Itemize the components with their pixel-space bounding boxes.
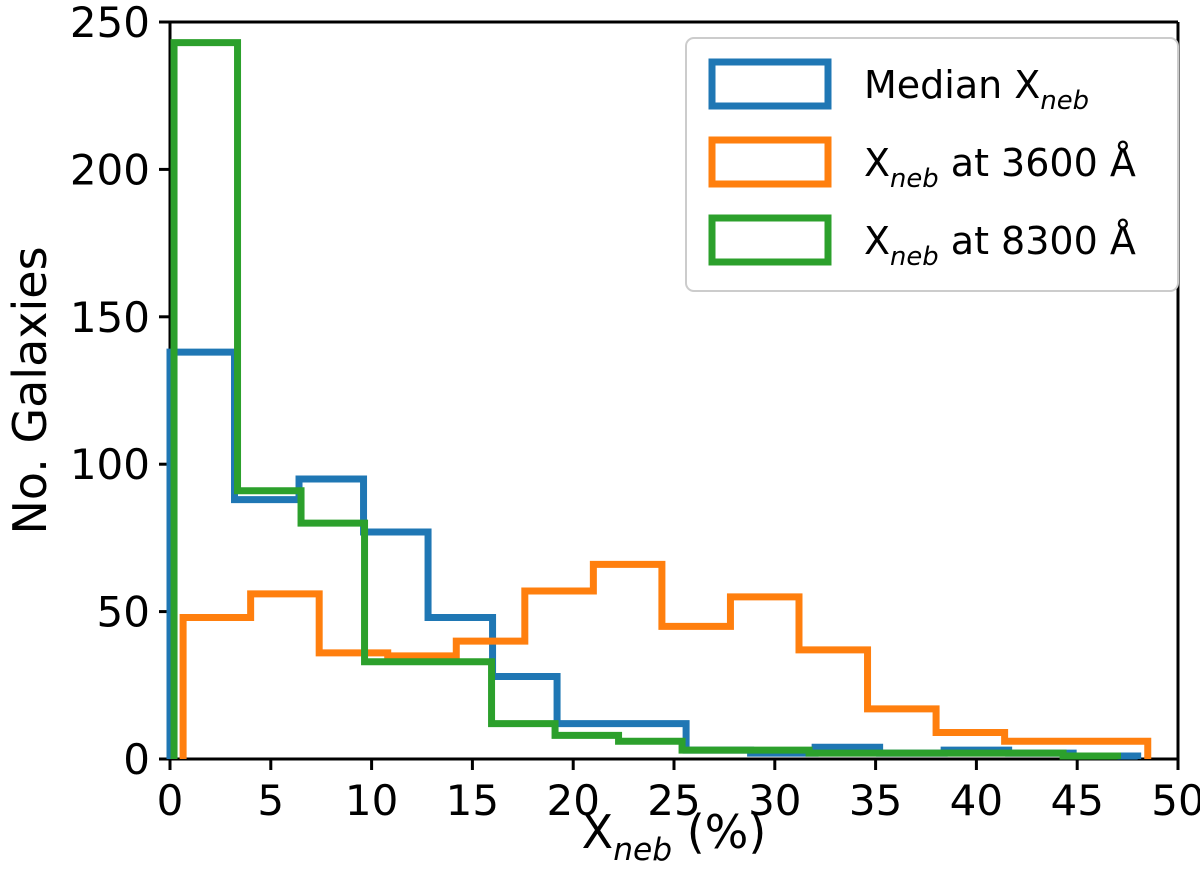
y-axis-title-text: No. Galaxies: [3, 246, 57, 534]
y-axis-title: No. Galaxies: [3, 246, 57, 534]
histogram-figure: 05101520253035404550 050100150200250 Xne…: [0, 0, 1200, 880]
x-tick-label: 40: [950, 776, 1003, 825]
y-tick-label: 50: [97, 588, 150, 637]
y-tick-label: 100: [70, 440, 150, 489]
x-tick-label: 50: [1151, 776, 1200, 825]
x-tick-label: 10: [345, 776, 398, 825]
y-axis-tick-labels: 050100150200250: [70, 0, 150, 784]
x-axis-ticks: [170, 759, 1178, 770]
x-axis-title-text: Xneb (%): [582, 805, 767, 868]
chart-canvas: 05101520253035404550 050100150200250 Xne…: [0, 0, 1200, 880]
x-tick-label: 35: [849, 776, 902, 825]
x-tick-label: 45: [1050, 776, 1103, 825]
chart-legend: Median XnebXneb at 3600 ÅXneb at 8300 Å: [686, 38, 1178, 291]
x-tick-label: 15: [446, 776, 499, 825]
y-tick-label: 250: [70, 0, 150, 47]
y-tick-label: 0: [123, 735, 150, 784]
x-tick-label: 0: [157, 776, 184, 825]
x-tick-label: 5: [257, 776, 284, 825]
y-tick-label: 200: [70, 145, 150, 194]
x-axis-title: Xneb (%): [582, 805, 767, 868]
y-tick-label: 150: [70, 293, 150, 342]
